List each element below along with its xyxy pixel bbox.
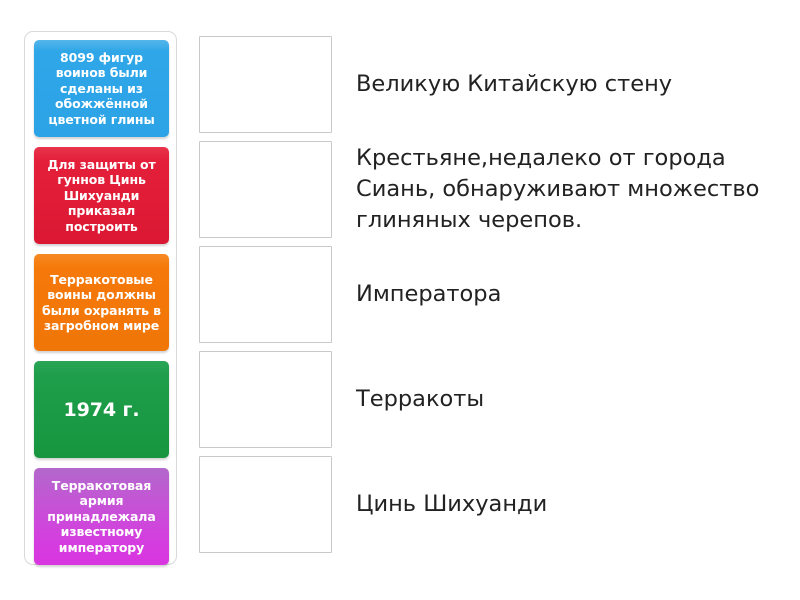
draggable-tile-label: Для защиты от гуннов Цинь Шихуанди прика… <box>40 157 163 235</box>
answer-row: Цинь Шихуанди <box>199 456 784 553</box>
draggable-tile-red[interactable]: Для защиты от гуннов Цинь Шихуанди прика… <box>34 147 169 244</box>
drop-zone-4[interactable] <box>199 351 332 448</box>
answer-label-5: Цинь Шихуанди <box>332 489 784 520</box>
answer-row: Великую Китайскую стену <box>199 36 784 133</box>
draggable-tile-blue[interactable]: 8099 фигур воинов были сделаны из обожжё… <box>34 40 169 137</box>
answer-list: Великую Китайскую стену Крестьяне,недале… <box>199 36 784 553</box>
draggable-tile-orange[interactable]: Терракотовые воины должны были охранять … <box>34 254 169 351</box>
drop-zone-3[interactable] <box>199 246 332 343</box>
draggable-tile-label: Терракотовые воины должны были охранять … <box>40 272 163 334</box>
answer-row: Терракоты <box>199 351 784 448</box>
answer-label-4: Терракоты <box>332 384 784 415</box>
drop-zone-1[interactable] <box>199 36 332 133</box>
answer-label-1: Великую Китайскую стену <box>332 69 784 100</box>
draggable-tile-purple[interactable]: Терракотовая армия принадлежала известно… <box>34 468 169 565</box>
draggable-tile-label: 1974 г. <box>40 399 163 421</box>
answer-row: Императора <box>199 246 784 343</box>
drop-zone-5[interactable] <box>199 456 332 553</box>
answer-label-2: Крестьяне,недалеко от города Сиань, обна… <box>332 143 784 236</box>
drop-zone-2[interactable] <box>199 141 332 238</box>
answer-row: Крестьяне,недалеко от города Сиань, обна… <box>199 141 784 238</box>
draggable-tile-label: Терракотовая армия принадлежала известно… <box>40 478 163 556</box>
answer-label-3: Императора <box>332 279 784 310</box>
draggable-tile-green[interactable]: 1974 г. <box>34 361 169 458</box>
draggable-tile-label: 8099 фигур воинов были сделаны из обожжё… <box>40 50 163 128</box>
draggable-tiles-panel: 8099 фигур воинов были сделаны из обожжё… <box>24 31 177 565</box>
